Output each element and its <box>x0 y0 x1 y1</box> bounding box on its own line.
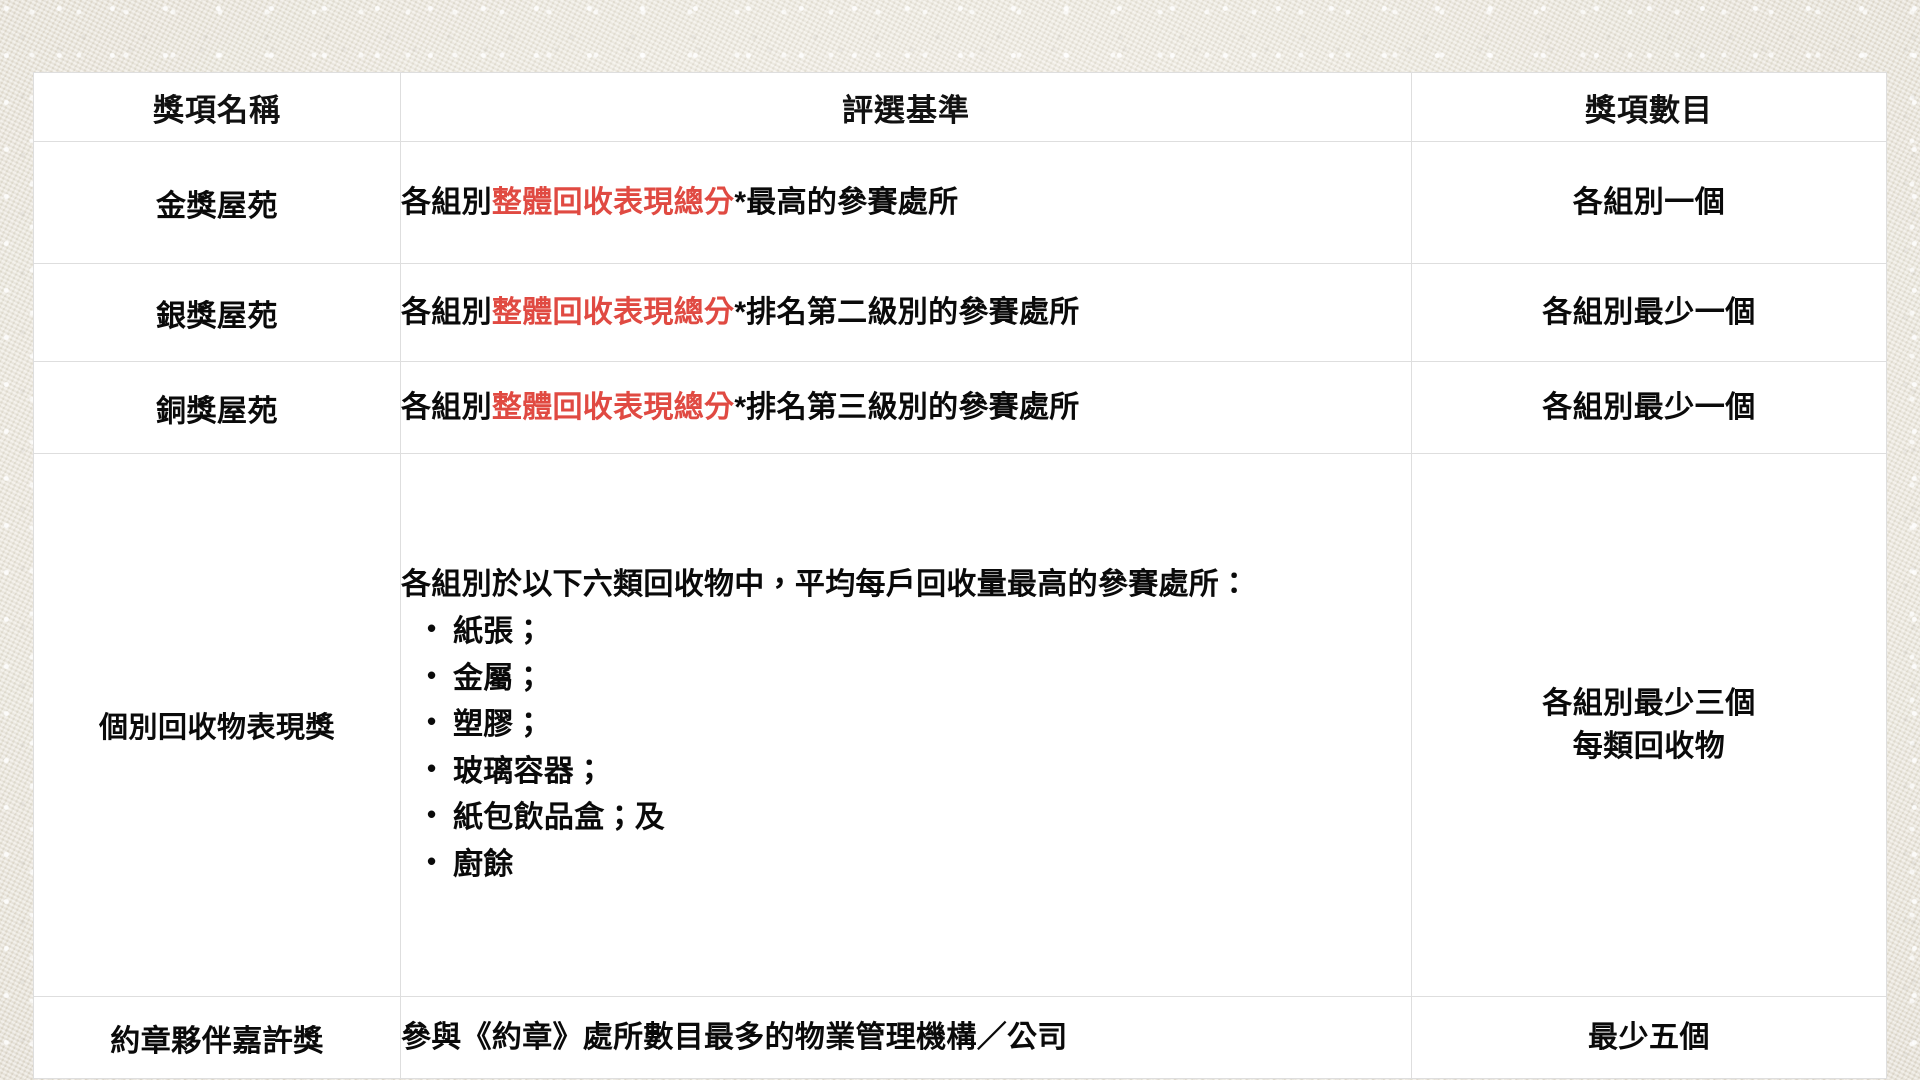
table-row: 銀獎屋苑 各組別整體回收表現總分*排名第二級別的參賽處所 各組別最少一個 <box>34 264 1887 362</box>
award-name-charter-partner: 約章夥伴嘉許獎 <box>34 997 401 1079</box>
count-line-1: 各組別最少三個 <box>1412 682 1886 726</box>
criteria-charter-partner: 參與《約章》處所數目最多的物業管理機構／公司 <box>401 997 1412 1079</box>
criteria-intro-text: 各組別於以下六類回收物中，平均每戶回收量最高的參賽處所： <box>401 562 1411 607</box>
table-row: 金獎屋苑 各組別整體回收表現總分*最高的參賽處所 各組別一個 <box>34 142 1887 264</box>
table-row: 個別回收物表現獎 各組別於以下六類回收物中，平均每戶回收量最高的參賽處所： 紙張… <box>34 454 1887 997</box>
award-count-bronze: 各組別最少一個 <box>1412 362 1887 454</box>
criteria-individual-recyclable: 各組別於以下六類回收物中，平均每戶回收量最高的參賽處所： 紙張； 金屬； 塑膠；… <box>401 454 1412 997</box>
award-name-individual-recyclable: 個別回收物表現獎 <box>34 454 401 997</box>
recyclable-list: 紙張； 金屬； 塑膠； 玻璃容器； 紙包飲品盒；及 廚餘 <box>401 609 1411 888</box>
count-line-2: 每類回收物 <box>1412 725 1886 769</box>
criteria-suffix: *最高的參賽處所 <box>734 186 958 219</box>
list-item: 紙張； <box>453 609 1411 656</box>
criteria-suffix: *排名第二級別的參賽處所 <box>734 296 1079 329</box>
criteria-suffix: *排名第三級別的參賽處所 <box>734 391 1079 424</box>
list-item: 玻璃容器； <box>453 749 1411 796</box>
column-header-criteria: 評選基準 <box>401 73 1412 142</box>
award-name-gold: 金獎屋苑 <box>34 142 401 264</box>
criteria-prefix: 各組別 <box>401 186 492 219</box>
header-row: 獎項名稱 評選基準 獎項數目 <box>34 73 1887 142</box>
criteria-highlight: 整體回收表現總分 <box>492 391 734 424</box>
award-name-silver: 銀獎屋苑 <box>34 264 401 362</box>
award-count-gold: 各組別一個 <box>1412 142 1887 264</box>
table-body: 金獎屋苑 各組別整體回收表現總分*最高的參賽處所 各組別一個 銀獎屋苑 各組別整… <box>34 142 1887 1079</box>
criteria-silver: 各組別整體回收表現總分*排名第二級別的參賽處所 <box>401 264 1412 362</box>
list-item: 廚餘 <box>453 842 1411 889</box>
award-criteria-table: 獎項名稱 評選基準 獎項數目 金獎屋苑 各組別整體回收表現總分*最高的參賽處所 … <box>33 72 1887 1079</box>
criteria-bronze: 各組別整體回收表現總分*排名第三級別的參賽處所 <box>401 362 1412 454</box>
award-count-charter-partner: 最少五個 <box>1412 997 1887 1079</box>
criteria-prefix: 各組別 <box>401 391 492 424</box>
table-header: 獎項名稱 評選基準 獎項數目 <box>34 73 1887 142</box>
criteria-prefix: 各組別 <box>401 296 492 329</box>
award-name-bronze: 銅獎屋苑 <box>34 362 401 454</box>
criteria-highlight: 整體回收表現總分 <box>492 296 734 329</box>
table-row: 銅獎屋苑 各組別整體回收表現總分*排名第三級別的參賽處所 各組別最少一個 <box>34 362 1887 454</box>
criteria-gold: 各組別整體回收表現總分*最高的參賽處所 <box>401 142 1412 264</box>
award-table-container: 獎項名稱 評選基準 獎項數目 金獎屋苑 各組別整體回收表現總分*最高的參賽處所 … <box>33 72 1886 1009</box>
award-count-silver: 各組別最少一個 <box>1412 264 1887 362</box>
list-item: 塑膠； <box>453 702 1411 749</box>
table-row: 約章夥伴嘉許獎 參與《約章》處所數目最多的物業管理機構／公司 最少五個 <box>34 997 1887 1079</box>
column-header-award-name: 獎項名稱 <box>34 73 401 142</box>
list-item: 金屬； <box>453 656 1411 703</box>
award-count-individual-recyclable: 各組別最少三個 每類回收物 <box>1412 454 1887 997</box>
list-item: 紙包飲品盒；及 <box>453 795 1411 842</box>
criteria-highlight: 整體回收表現總分 <box>492 186 734 219</box>
column-header-award-count: 獎項數目 <box>1412 73 1887 142</box>
